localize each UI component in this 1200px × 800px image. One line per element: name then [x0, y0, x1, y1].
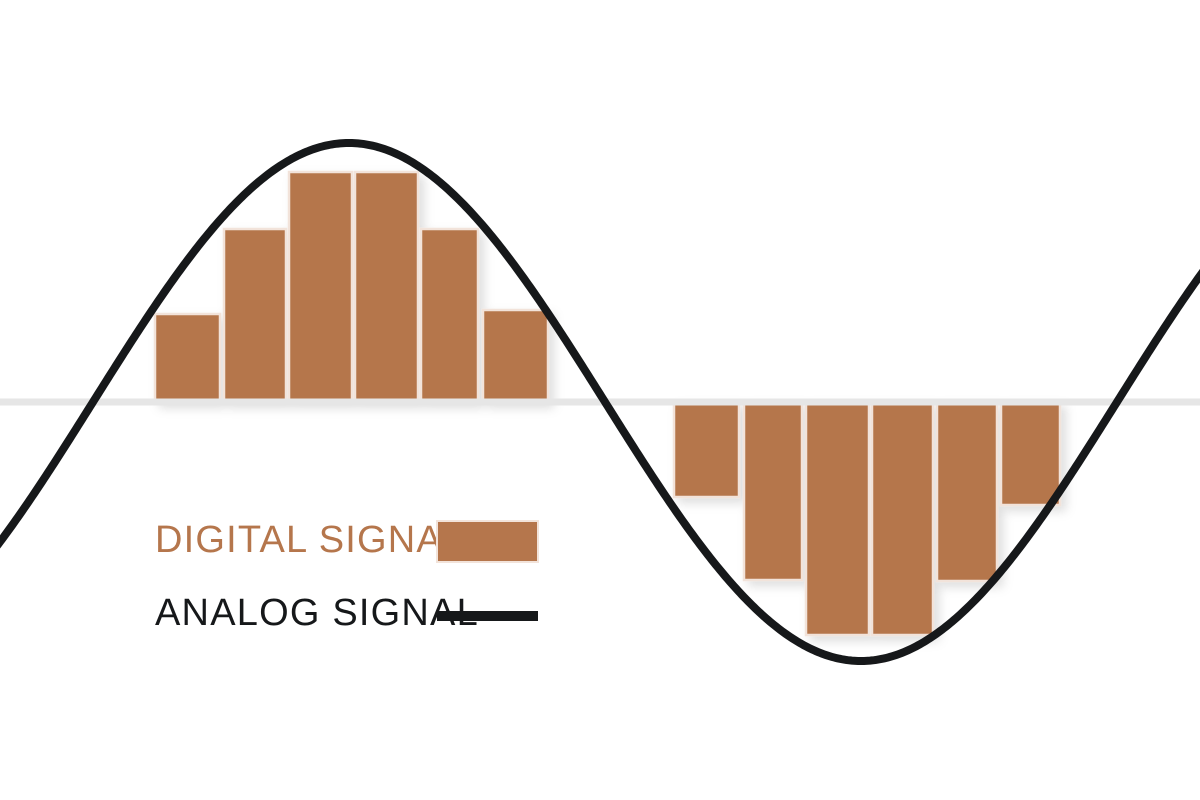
digital-signal-bar	[1001, 402, 1060, 505]
digital-signal-bar	[872, 402, 933, 635]
legend-label-digital: DIGITAL SIGNAL	[155, 519, 465, 561]
legend-label-analog: ANALOG SIGNAL	[155, 592, 479, 634]
digital-signal-bar	[155, 314, 220, 402]
digital-signal-bar	[355, 172, 418, 402]
digital-signal-bar	[421, 229, 478, 402]
digital-signal-bar	[744, 402, 802, 580]
digital-signal-bar	[806, 402, 869, 635]
digital-signal-bar	[483, 310, 548, 402]
signal-figure: DIGITAL SIGNAL ANALOG SIGNAL	[0, 0, 1200, 800]
digital-signal-bar	[224, 229, 286, 402]
digital-signal-bar	[289, 172, 352, 402]
legend-swatch-digital	[437, 521, 538, 562]
legend-swatch-analog	[437, 611, 538, 621]
digital-signal-bar	[937, 402, 997, 581]
digital-signal-bar	[674, 402, 739, 497]
signal-chart-svg: DIGITAL SIGNAL ANALOG SIGNAL	[0, 0, 1200, 800]
